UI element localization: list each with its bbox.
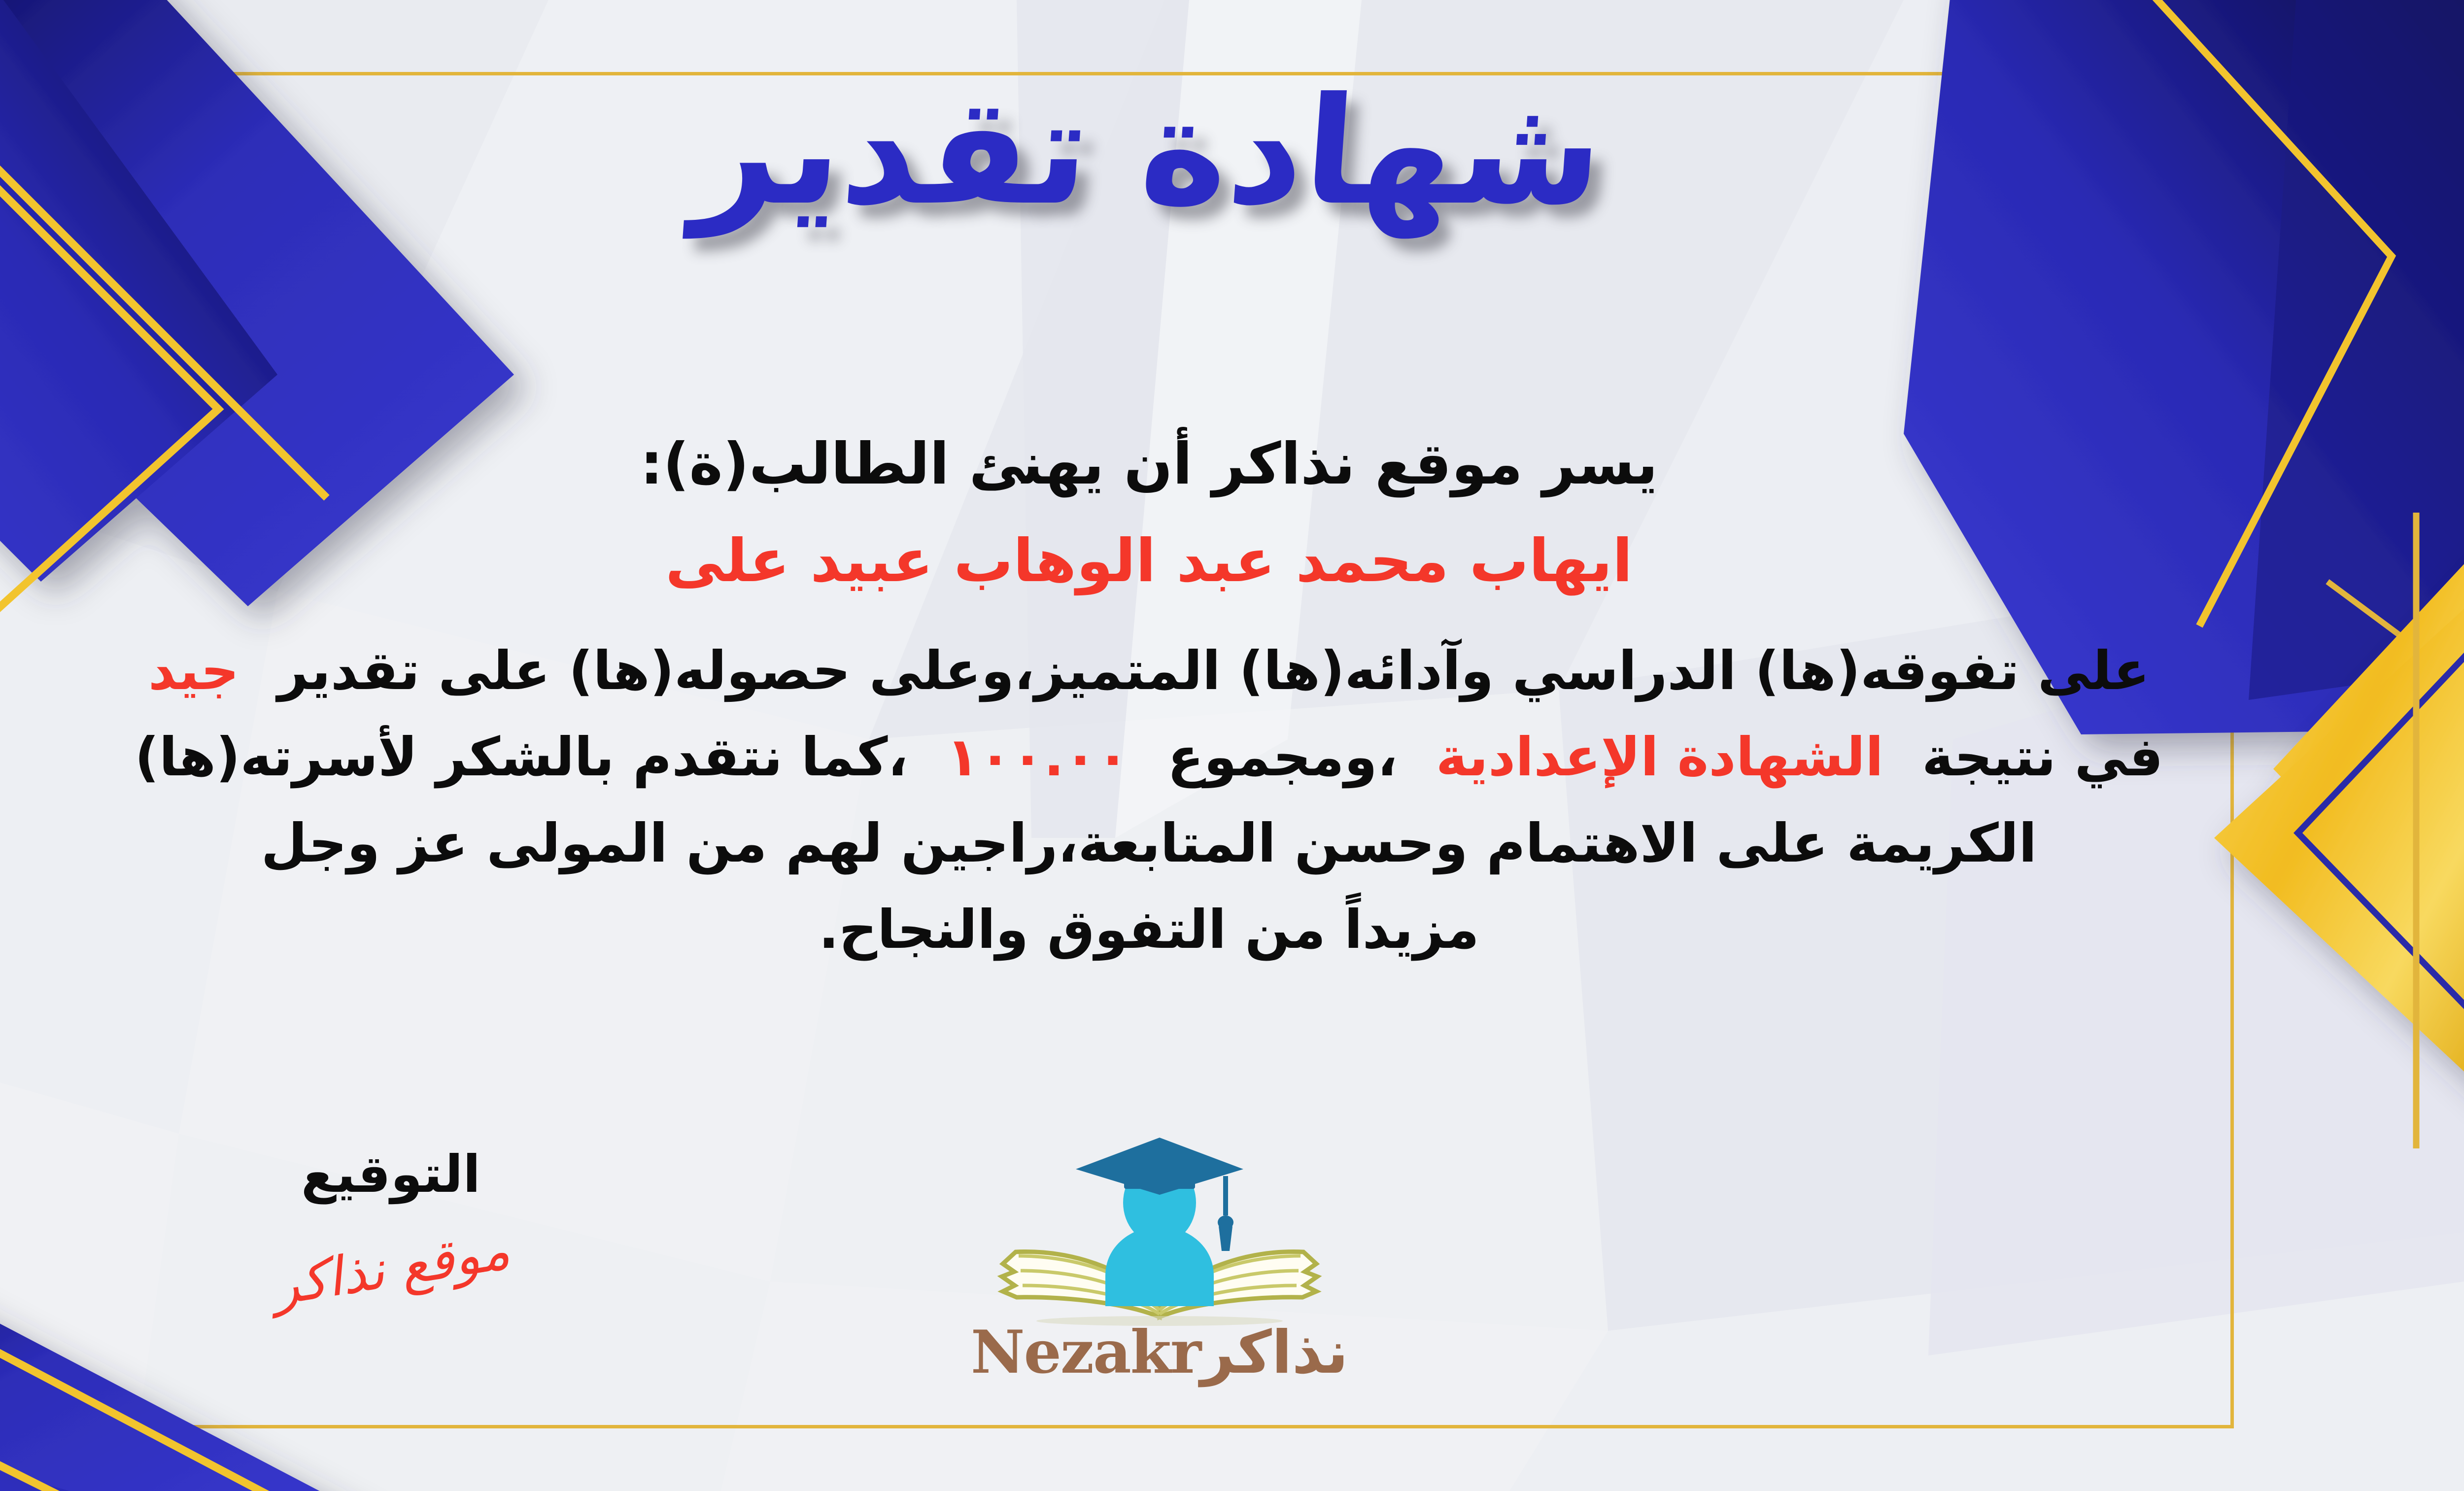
logo-wordmark: Nezakrنذاكر (967, 1323, 1352, 1383)
total-score: ١٠٠.٠٠ (946, 727, 1129, 788)
signature-label: التوقيع (218, 1148, 563, 1200)
student-name: ايهاب محمد عبد الوهاب عبيد على (0, 523, 2316, 600)
certificate-body: يسر موقع نذاكر أن يهنئ الطالب(ة): ايهاب … (0, 424, 2316, 973)
body-paragraph: على تفوقه(ها) الدراسي وآدائه(ها) المتميز… (0, 628, 2316, 973)
body-segment-3: ،ومجموع (1167, 727, 1398, 788)
signature-block: التوقيع موقع نذاكر (218, 1148, 563, 1295)
body-segment-1: على تفوقه(ها) الدراسي وآدائه(ها) المتميز… (277, 640, 2150, 702)
body-segment-5: الكريمة على الاهتمام وحسن المتابعة،راجين… (261, 813, 2037, 874)
logo-name-latin: Nezakr (971, 1318, 1200, 1387)
body-segment-6: مزيداً من التفوق والنجاح. (819, 899, 1479, 961)
logo-name-arabic: نذاكر (1200, 1318, 1348, 1387)
intro-line: يسر موقع نذاكر أن يهنئ الطالب(ة): (0, 424, 2316, 505)
site-logo: Nezakrنذاكر (967, 1129, 1352, 1383)
certificate-title: شهادة تقدير (689, 74, 1608, 229)
grade-value: جيد (148, 640, 239, 702)
body-segment-2: في نتيجة (1922, 727, 2163, 788)
certificate-title-wrap: شهادة تقدير (0, 74, 2464, 229)
certificate-canvas: شهادة تقدير يسر موقع نذاكر أن يهنئ الطال… (0, 0, 2464, 1491)
body-segment-4: ،كما نتقدم بالشكر لأسرته(ها) (135, 727, 908, 788)
graduate-book-icon (967, 1129, 1352, 1326)
exam-name: الشهادة الإعدادية (1436, 727, 1883, 788)
signature-script: موقع نذاكر (269, 1224, 513, 1314)
